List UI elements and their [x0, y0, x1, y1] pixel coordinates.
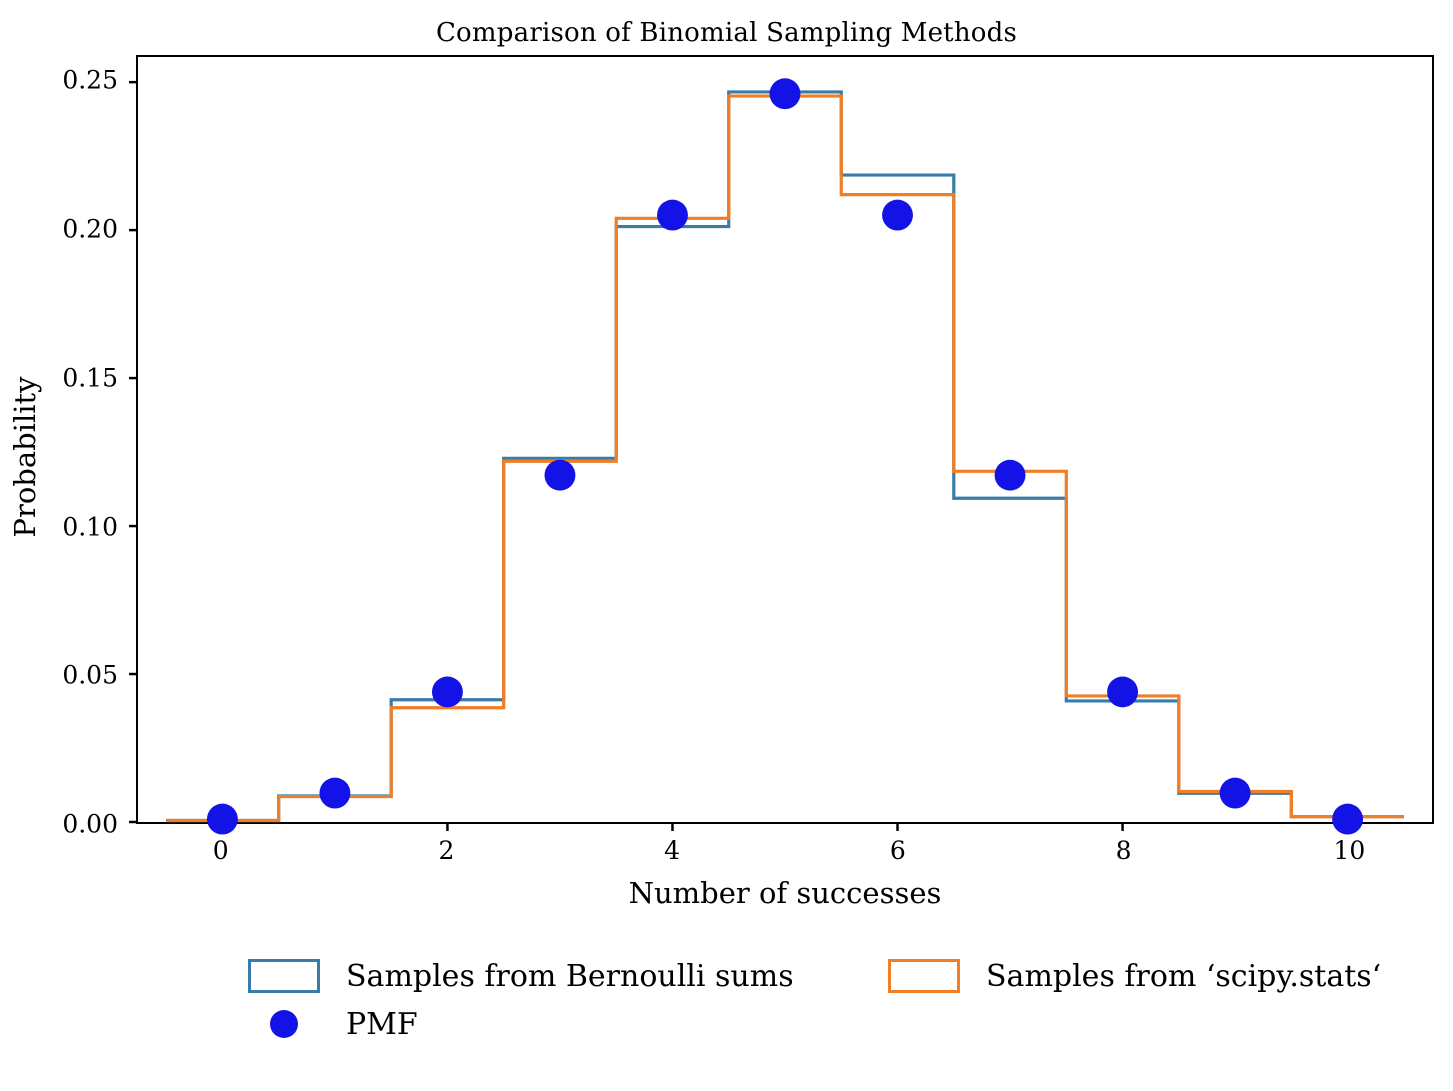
legend-swatch-box-icon: [248, 959, 320, 993]
x-tick-label: 10: [1309, 836, 1389, 865]
y-tick-label: 0.00: [0, 810, 118, 839]
series-pmf-markers: [207, 78, 1363, 834]
legend-entry-bernoulli-sums[interactable]: Samples from Bernoulli sums: [248, 952, 888, 1000]
x-tick-label: 2: [406, 836, 486, 865]
pmf-marker: [995, 460, 1026, 491]
x-tick-label: 8: [1084, 836, 1164, 865]
step-line: [166, 92, 1404, 821]
pmf-marker: [770, 78, 801, 109]
pmf-marker: [1107, 677, 1138, 708]
legend-label-scipy-stats: Samples from ‘scipy.stats‘: [986, 959, 1381, 994]
legend-swatch-box-icon: [888, 959, 960, 993]
x-tick-label: 0: [181, 836, 261, 865]
pmf-marker: [432, 677, 463, 708]
y-tick-label: 0.25: [0, 66, 118, 95]
filled-circle-icon: [270, 1010, 298, 1038]
figure-canvas: Comparison of Binomial Sampling Methods …: [0, 0, 1453, 1091]
chart-title: Comparison of Binomial Sampling Methods: [0, 18, 1453, 48]
x-axis-label: Number of successes: [136, 876, 1434, 910]
pmf-marker: [319, 778, 350, 809]
pmf-marker: [207, 804, 238, 835]
x-tick-label: 6: [858, 836, 938, 865]
series-scipy-stats-step: [166, 96, 1404, 820]
y-axis-label: Probability: [8, 227, 42, 687]
pmf-marker: [882, 200, 913, 231]
legend-row-1: Samples from Bernoulli sums Samples from…: [248, 952, 1448, 1000]
step-line: [166, 96, 1404, 820]
plot-area: [136, 55, 1434, 824]
legend: Samples from Bernoulli sums Samples from…: [248, 952, 1448, 1048]
legend-entry-pmf[interactable]: PMF: [248, 1000, 888, 1048]
legend-entry-scipy-stats[interactable]: Samples from ‘scipy.stats‘: [888, 952, 1381, 1000]
legend-row-2: PMF: [248, 1000, 1448, 1048]
pmf-marker: [1220, 778, 1251, 809]
pmf-marker: [545, 460, 576, 491]
legend-label-bernoulli-sums: Samples from Bernoulli sums: [346, 959, 794, 994]
pmf-marker: [657, 200, 688, 231]
x-tick-label: 4: [632, 836, 712, 865]
legend-label-pmf: PMF: [346, 1007, 418, 1042]
legend-swatch-dot-wrap: [248, 1010, 320, 1038]
pmf-marker: [1332, 804, 1363, 835]
plot-svg: [138, 57, 1432, 822]
series-bernoulli-sums-step: [166, 92, 1404, 821]
